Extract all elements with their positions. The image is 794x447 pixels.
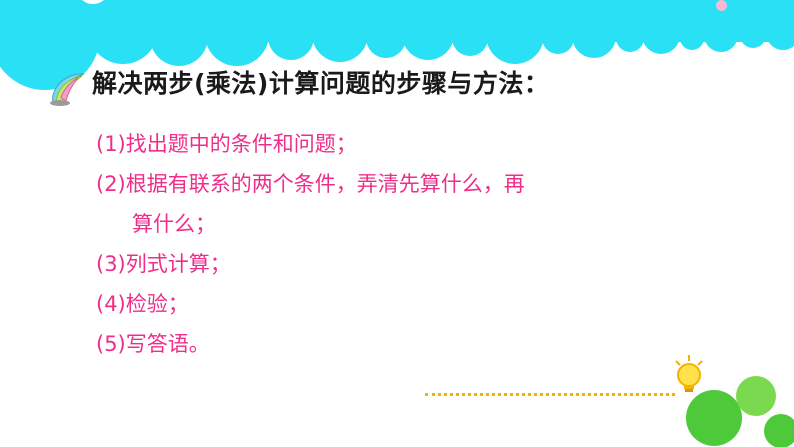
- bubble-medium-2: [150, 8, 208, 66]
- item-text: 找出题中的条件和问题；: [126, 124, 357, 164]
- pink-dot-top-right: [716, 0, 727, 11]
- slide-root: 解决两步(乘法)计算问题的步骤与方法： (1) 找出题中的条件和问题； (2) …: [0, 0, 794, 447]
- item-number: (1): [96, 124, 126, 164]
- bubble-medium-5: [312, 6, 368, 62]
- steps-list: (1) 找出题中的条件和问题； (2) 根据有联系的两个条件，弄清先算什么，再 …: [96, 124, 696, 364]
- leaf-icon: [48, 72, 88, 106]
- bubble-medium-16: [740, 22, 766, 48]
- bubble-medium-4: [268, 14, 314, 60]
- green-circle-large: [686, 390, 742, 446]
- bubble-medium-12: [616, 24, 644, 52]
- item-number: (2): [96, 164, 126, 204]
- item-number: (3): [96, 244, 126, 284]
- bubble-medium-1: [88, 0, 158, 64]
- item-number: (4): [96, 284, 126, 324]
- list-item: (2) 根据有联系的两个条件，弄清先算什么，再: [96, 164, 696, 204]
- green-circle-medium: [736, 376, 776, 416]
- bubble-medium-9: [486, 6, 544, 64]
- item-continuation: 算什么；: [96, 204, 696, 244]
- page-title: 解决两步(乘法)计算问题的步骤与方法：: [92, 68, 549, 100]
- bubble-medium-17: [766, 16, 794, 50]
- list-item: (4) 检验；: [96, 284, 696, 324]
- list-item: (1) 找出题中的条件和问题；: [96, 124, 696, 164]
- item-text: 写答语。: [126, 324, 210, 364]
- item-text: 根据有联系的两个条件，弄清先算什么，再: [126, 164, 525, 204]
- list-item: (5) 写答语。: [96, 324, 696, 364]
- bubble-medium-14: [680, 26, 704, 50]
- bubble-medium-6: [366, 18, 406, 58]
- heading-row: 解决两步(乘法)计算问题的步骤与方法：: [48, 68, 549, 106]
- item-number: (5): [96, 324, 126, 364]
- bubble-medium-3: [205, 2, 269, 66]
- list-item: (3) 列式计算；: [96, 244, 696, 284]
- bubble-medium-11: [572, 14, 616, 58]
- bubble-medium-13: [642, 16, 680, 54]
- bubble-medium-7: [402, 8, 454, 60]
- lightbulb-icon: [672, 355, 706, 397]
- item-text: 列式计算；: [126, 244, 231, 284]
- green-circle-small: [764, 414, 794, 447]
- bubble-medium-8: [452, 20, 488, 56]
- bubble-medium-15: [704, 18, 738, 52]
- dotted-divider: [425, 393, 675, 396]
- item-text: 检验；: [126, 284, 189, 324]
- bubble-medium-10: [542, 22, 574, 54]
